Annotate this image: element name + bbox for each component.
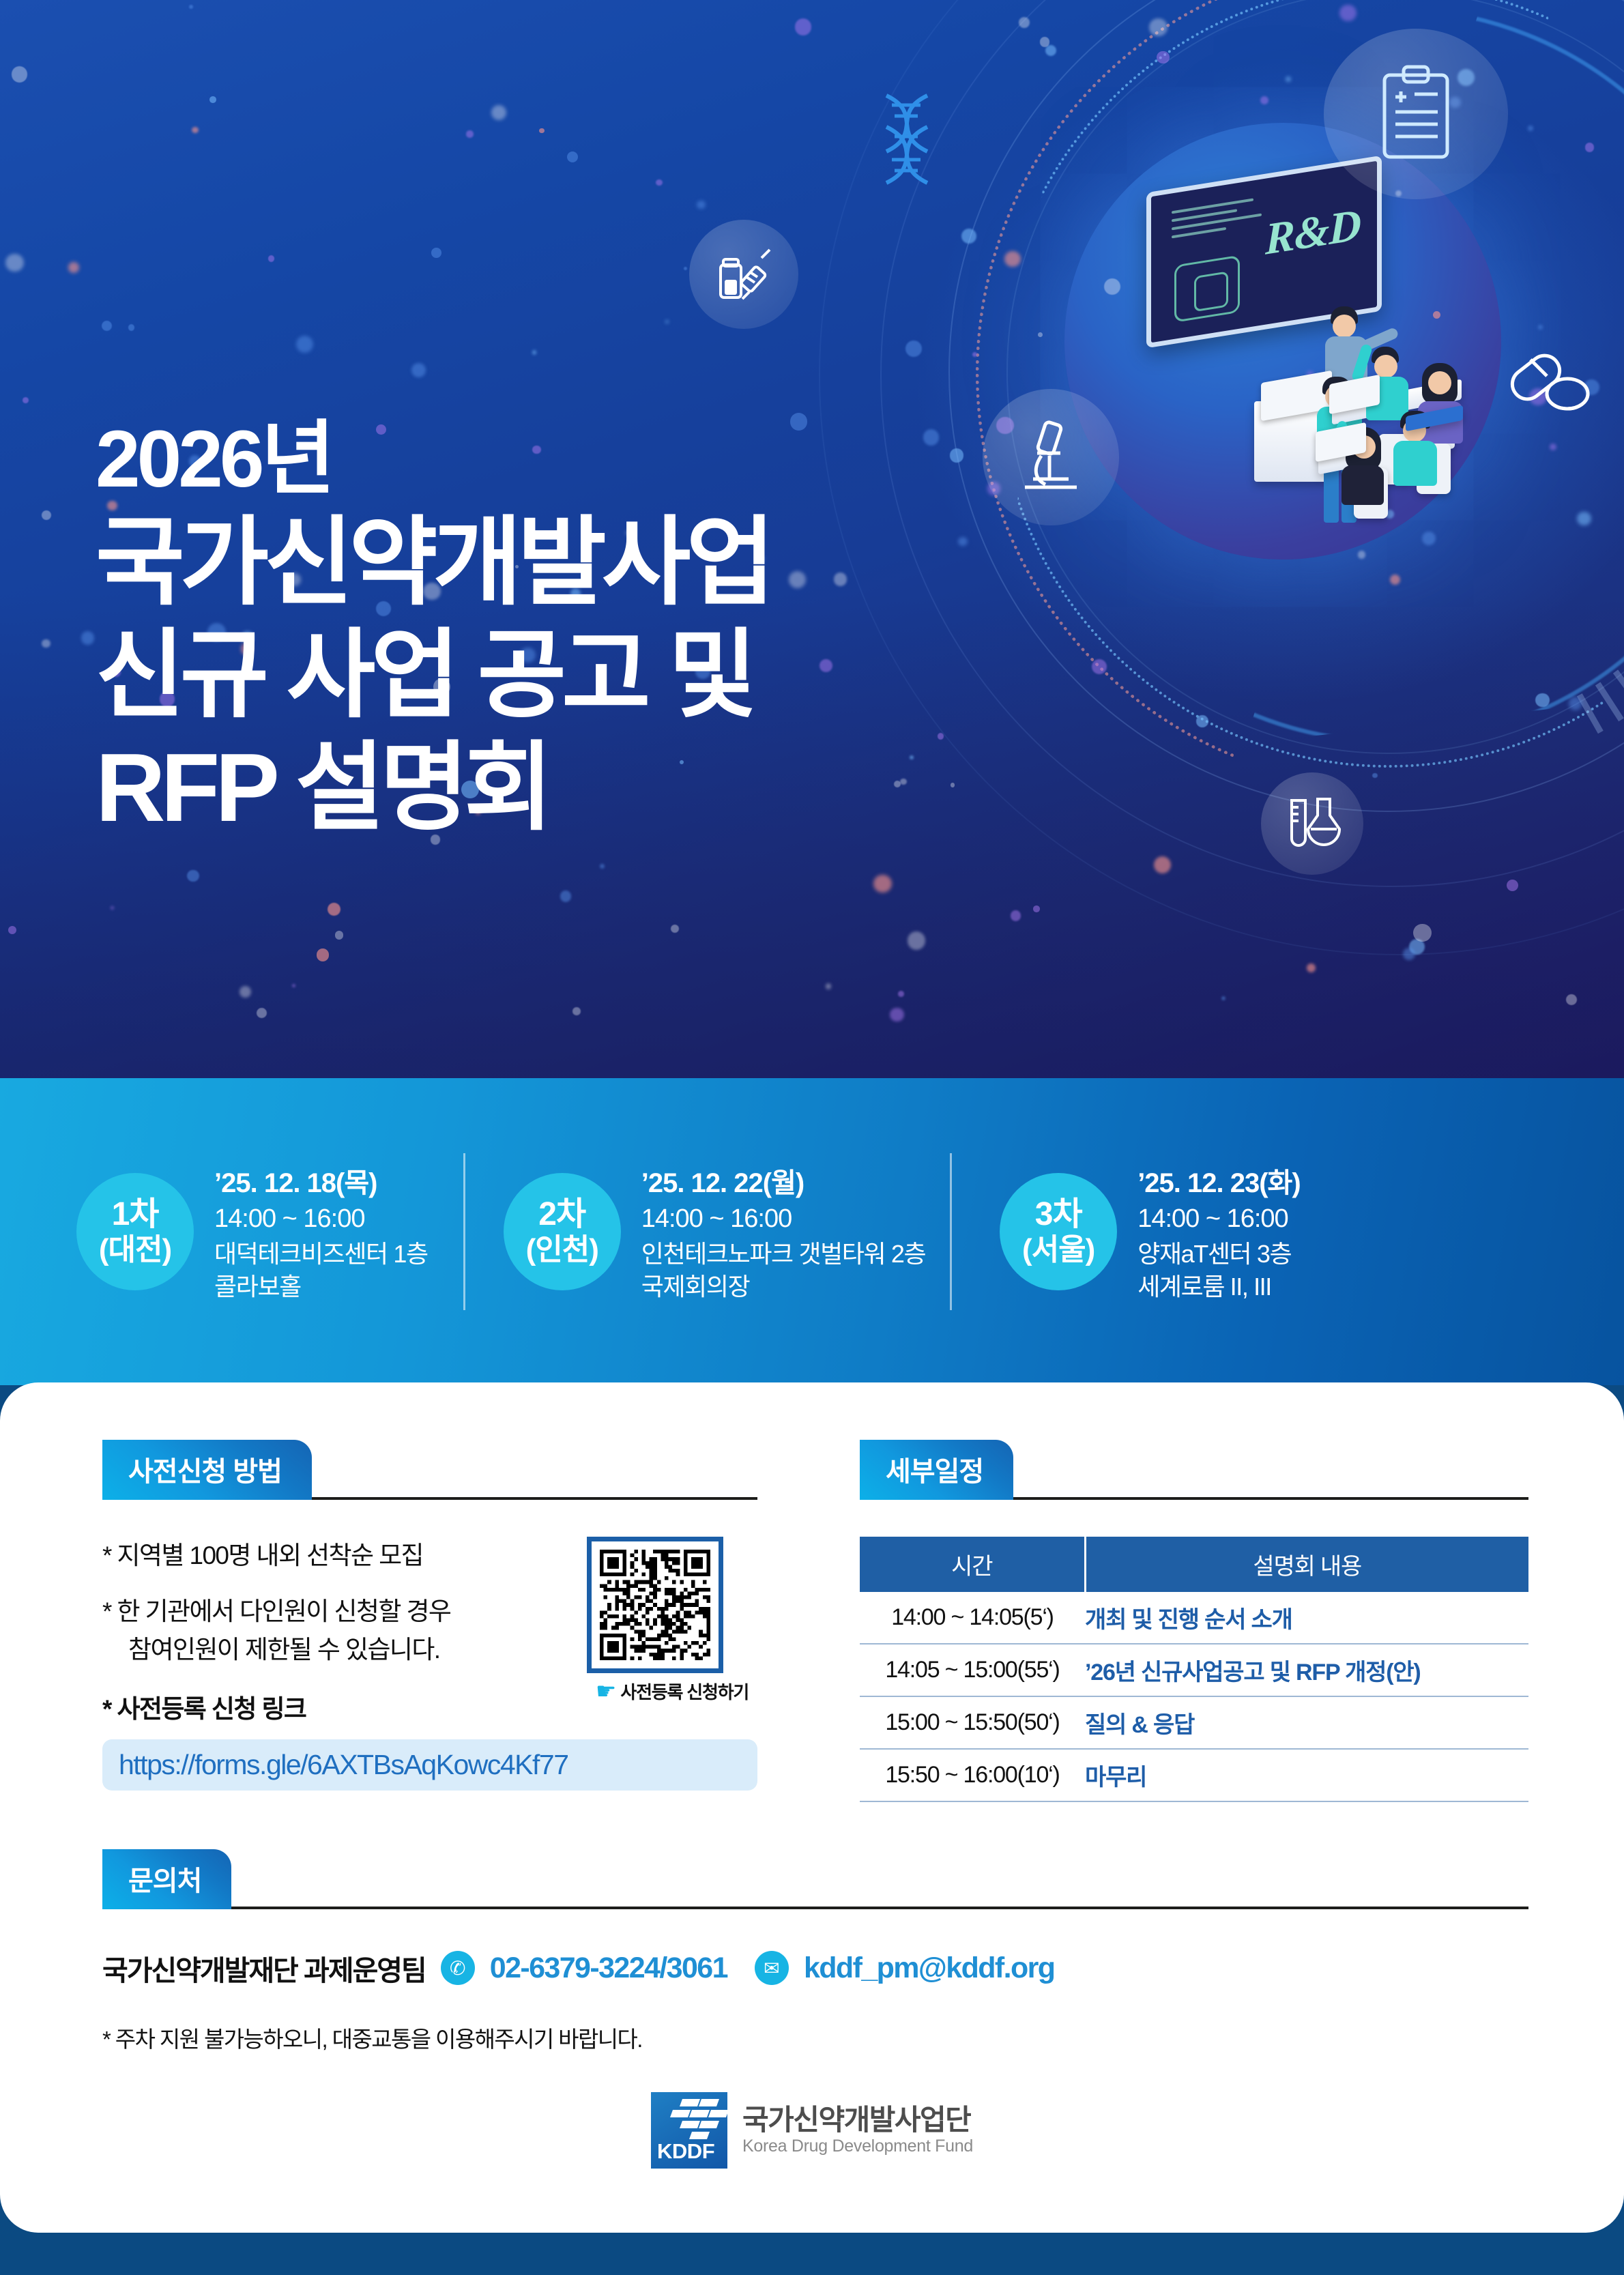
apply-section-header: 사전신청 방법 <box>102 1440 757 1500</box>
session-info-1: ’25. 12. 18(목) 14:00 ~ 16:00 대덕테크비즈센터 1층… <box>214 1161 428 1303</box>
table-row: 14:05 ~ 15:00(55‘) ’26년 신규사업공고 및 RFP 개정(… <box>860 1644 1528 1696</box>
footer-org-ko: 국가신약개발사업단 <box>742 2104 973 2136</box>
session-venue-2-line2: 국제회의장 <box>641 1271 925 1303</box>
schedule-time-3: 15:00 ~ 15:50(50‘) <box>860 1696 1085 1749</box>
clipboard-icon <box>1324 29 1508 199</box>
apply-section-title: 사전신청 방법 <box>102 1440 312 1500</box>
session-item-3: 3차 (서울) ’25. 12. 23(화) 14:00 ~ 16:00 양재a… <box>1000 1161 1300 1303</box>
contact-section-rule <box>102 1907 1528 1909</box>
schedule-col-content: 설명회 내용 <box>1085 1537 1528 1592</box>
apply-body: * 지역별 100명 내외 선착순 모집 * 한 기관에서 다인원이 신청할 경… <box>102 1537 757 1728</box>
session-venue-3-line2: 세계로룸 II, III <box>1137 1271 1300 1303</box>
qr-block[interactable]: ☛ 사전등록 신청하기 <box>587 1537 757 1728</box>
hero-year: 2026년 <box>96 416 770 503</box>
schedule-time-4: 15:50 ~ 16:00(10‘) <box>860 1749 1085 1801</box>
table-row: 15:50 ~ 16:00(10‘) 마무리 <box>860 1749 1528 1801</box>
session-date-2: ’25. 12. 22(월) <box>641 1161 925 1200</box>
hero-title-line-3: RFP 설명회 <box>96 732 770 845</box>
contact-details: 국가신약개발재단 과제운영팀 ✆ 02-6379-3224/3061 ✉ kdd… <box>102 1947 1528 1988</box>
apply-note-3: 참여인원이 제한될 수 있습니다. <box>128 1631 566 1669</box>
session-item-1: 1차 (대전) ’25. 12. 18(목) 14:00 ~ 16:00 대덕테… <box>76 1161 428 1303</box>
footer-org-en: Korea Drug Development Fund <box>742 2136 973 2156</box>
apply-note-1: * 지역별 100명 내외 선착순 모집 <box>102 1537 566 1575</box>
hero-banner: R&D <box>0 0 1624 1078</box>
footer-org-block: 국가신약개발사업단 Korea Drug Development Fund <box>742 2104 973 2156</box>
hero-title-block: 2026년 국가신약개발사업 신규 사업 공고 및 RFP 설명회 <box>96 416 770 845</box>
footer-logo: KDDF 국가신약개발사업단 Korea Drug Development Fu… <box>0 2092 1624 2169</box>
session-badge-2: 2차 (인천) <box>504 1173 621 1290</box>
schedule-section-title: 세부일정 <box>860 1440 1013 1500</box>
session-item-2: 2차 (인천) ’25. 12. 22(월) 14:00 ~ 16:00 인천테… <box>504 1161 925 1303</box>
session-venue-3-line1: 양재aT센터 3층 <box>1137 1238 1300 1271</box>
contact-section: 문의처 국가신약개발재단 과제운영팀 ✆ 02-6379-3224/3061 ✉… <box>102 1849 1528 2054</box>
schedule-section: 세부일정 시간 설명회 내용 14:00 ~ 14:05(5‘) 개최 및 진행… <box>860 1440 1528 1802</box>
session-time-1: 14:00 ~ 16:00 <box>214 1204 428 1234</box>
dna-helix-icon <box>870 89 952 194</box>
kddf-logo-text: KDDF <box>657 2139 714 2164</box>
schedule-section-header: 세부일정 <box>860 1440 1528 1500</box>
qr-code-icon[interactable] <box>587 1537 723 1673</box>
session-date-1: ’25. 12. 18(목) <box>214 1161 428 1200</box>
session-number-3: 3차 <box>1035 1196 1082 1233</box>
session-number-2: 2차 <box>538 1196 585 1233</box>
schedule-header-row: 시간 설명회 내용 <box>860 1537 1528 1592</box>
session-divider-1 <box>463 1153 465 1310</box>
content-card: 사전신청 방법 * 지역별 100명 내외 선착순 모집 * 한 기관에서 다인… <box>0 1382 1624 2233</box>
schedule-table: 시간 설명회 내용 14:00 ~ 14:05(5‘) 개최 및 진행 순서 소… <box>860 1537 1528 1802</box>
contact-section-title: 문의처 <box>102 1849 231 1909</box>
session-info-2: ’25. 12. 22(월) 14:00 ~ 16:00 인천테크노파크 갯벌타… <box>641 1161 925 1303</box>
kddf-logo-mark: KDDF <box>651 2092 727 2169</box>
pills-icon <box>1488 321 1610 444</box>
session-badge-1: 1차 (대전) <box>76 1173 194 1290</box>
contact-email[interactable]: kddf_pm@kddf.org <box>804 1952 1055 1985</box>
apply-section: 사전신청 방법 * 지역별 100명 내외 선착순 모집 * 한 기관에서 다인… <box>102 1440 757 1791</box>
board-text-lines <box>1172 197 1262 244</box>
session-time-3: 14:00 ~ 16:00 <box>1137 1204 1300 1234</box>
session-venue-1-line1: 대덕테크비즈센터 1층 <box>214 1238 428 1271</box>
pointing-hand-icon: ☛ <box>596 1680 616 1703</box>
schedule-col-time: 시간 <box>860 1537 1085 1592</box>
flask-test-tube-icon <box>1261 772 1363 875</box>
table-row: 14:00 ~ 14:05(5‘) 개최 및 진행 순서 소개 <box>860 1592 1528 1644</box>
apply-link-label: * 사전등록 신청 링크 <box>102 1690 566 1728</box>
contact-org: 국가신약개발재단 과제운영팀 <box>102 1947 426 1988</box>
contact-section-header: 문의처 <box>102 1849 1528 1909</box>
session-venue-1-line2: 콜라보홀 <box>214 1271 428 1303</box>
phone-icon: ✆ <box>441 1951 475 1985</box>
apply-link-url[interactable]: https://forms.gle/6AXTBsAqKowc4Kf77 <box>102 1739 757 1791</box>
session-time-2: 14:00 ~ 16:00 <box>641 1204 925 1234</box>
qr-caption: 사전등록 신청하기 <box>620 1679 749 1704</box>
rd-board-label: R&D <box>1265 199 1361 266</box>
schedule-time-1: 14:00 ~ 14:05(5‘) <box>860 1592 1085 1644</box>
schedule-content-3: 질의 & 응답 <box>1085 1696 1528 1749</box>
session-city-3: (서울) <box>1022 1233 1094 1266</box>
session-badge-3: 3차 (서울) <box>1000 1173 1117 1290</box>
session-number-1: 1차 <box>112 1196 159 1233</box>
schedule-content-4: 마무리 <box>1085 1749 1528 1801</box>
schedule-content-1: 개최 및 진행 순서 소개 <box>1085 1592 1528 1644</box>
syringe-vial-icon <box>689 220 798 329</box>
session-bar: 1차 (대전) ’25. 12. 18(목) 14:00 ~ 16:00 대덕테… <box>0 1078 1624 1385</box>
molecule-icon <box>1174 255 1240 323</box>
contact-phone[interactable]: 02-6379-3224/3061 <box>490 1952 727 1985</box>
parking-note: * 주차 지원 불가능하오니, 대중교통을 이용해주시기 바랍니다. <box>102 2021 1528 2054</box>
session-city-2: (인천) <box>526 1233 598 1266</box>
microscope-icon <box>983 389 1119 525</box>
session-venue-2-line1: 인천테크노파크 갯벌타워 2층 <box>641 1238 925 1271</box>
apply-notes: * 지역별 100명 내외 선착순 모집 * 한 기관에서 다인원이 신청할 경… <box>102 1537 566 1728</box>
session-divider-2 <box>950 1153 952 1310</box>
session-info-3: ’25. 12. 23(화) 14:00 ~ 16:00 양재aT센터 3층 세… <box>1137 1161 1300 1303</box>
hero-title-line-2: 신규 사업 공고 및 <box>96 620 770 732</box>
table-row: 15:00 ~ 15:50(50‘) 질의 & 응답 <box>860 1696 1528 1749</box>
envelope-icon: ✉ <box>755 1951 789 1985</box>
session-city-1: (대전) <box>99 1233 171 1266</box>
schedule-time-2: 14:05 ~ 15:00(55‘) <box>860 1644 1085 1696</box>
schedule-content-2: ’26년 신규사업공고 및 RFP 개정(안) <box>1085 1644 1528 1696</box>
footer-strip <box>0 2233 1624 2275</box>
hero-title-line-1: 국가신약개발사업 <box>96 507 770 620</box>
apply-note-2: * 한 기관에서 다인원이 신청할 경우 <box>102 1593 566 1631</box>
session-date-3: ’25. 12. 23(화) <box>1137 1161 1300 1200</box>
